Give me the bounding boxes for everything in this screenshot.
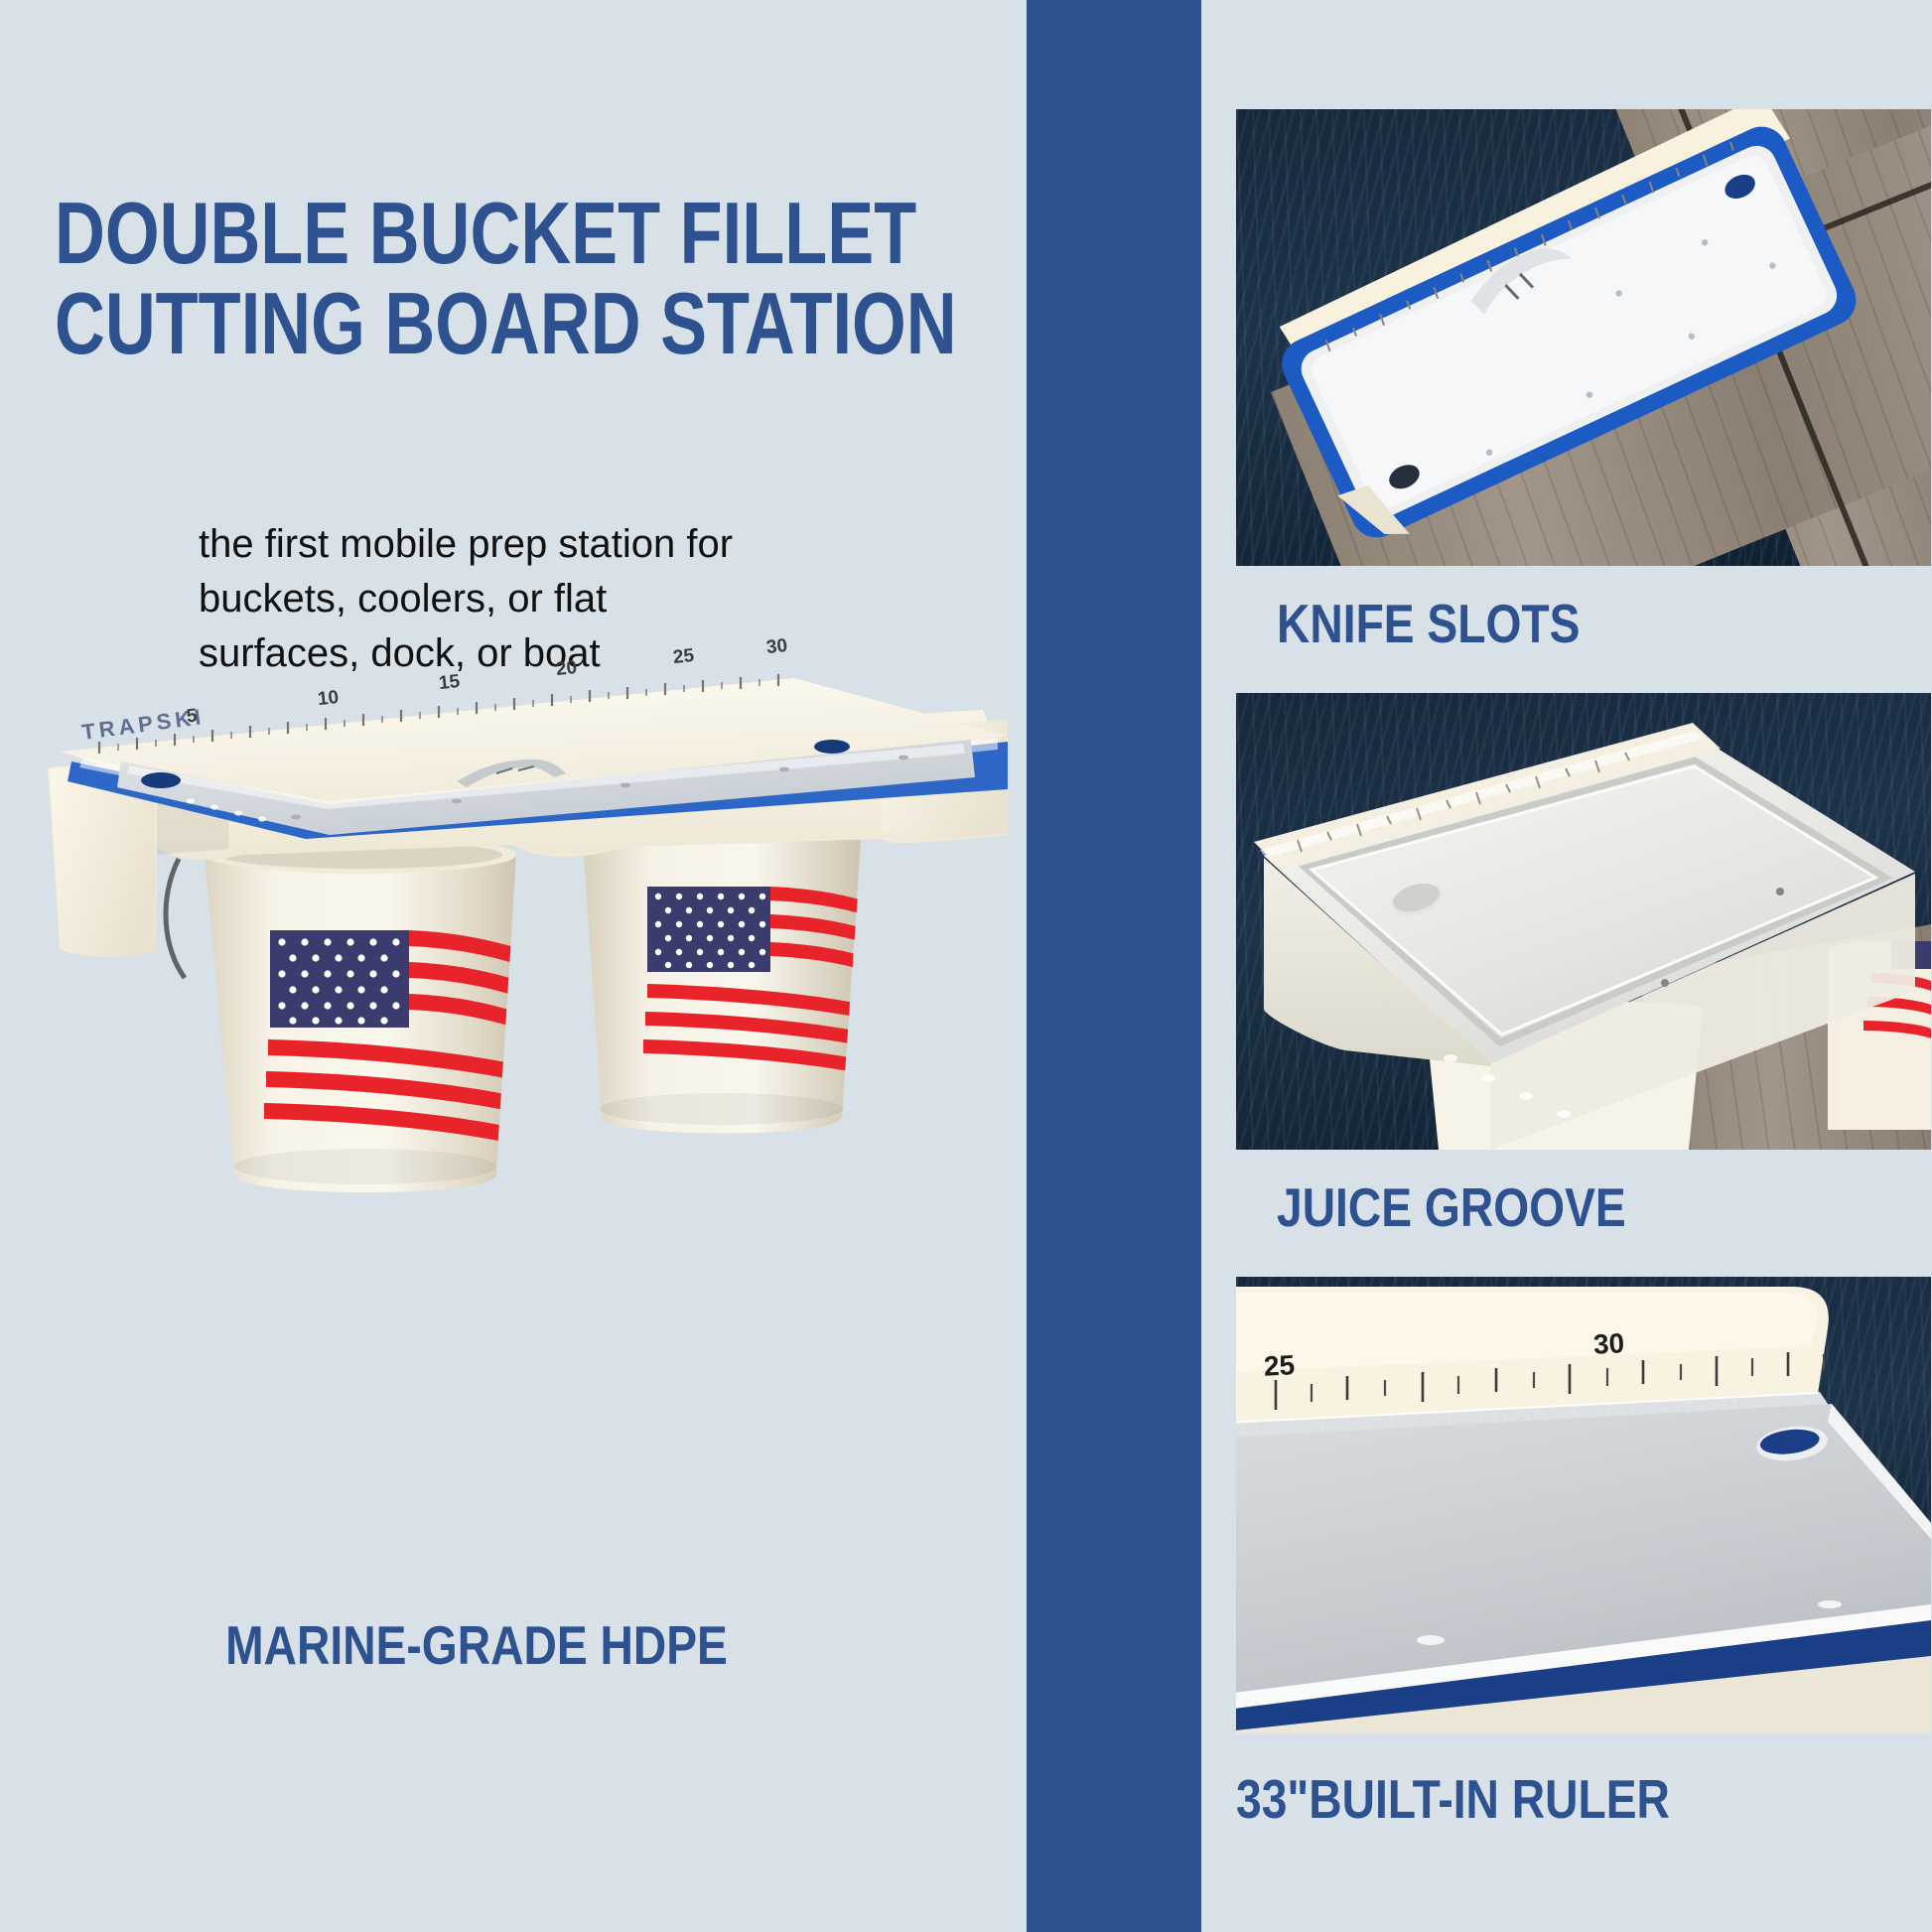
ruler-label-10: 10 (317, 687, 340, 711)
panel-caption-knife-slots: KNIFE SLOTS (1277, 592, 1580, 655)
ruler-label-25: 25 (1263, 1349, 1296, 1383)
panel-caption-juice-groove: JUICE GROOVE (1277, 1175, 1626, 1239)
page-title: DOUBLE BUCKET FILLET CUTTING BOARD STATI… (55, 189, 793, 368)
bucket-left (166, 836, 524, 1192)
panel-juice-groove-photo (1236, 693, 1931, 1150)
infographic-canvas: DOUBLE BUCKET FILLET CUTTING BOARD STATI… (0, 0, 1932, 1932)
ruler-label-30: 30 (1592, 1327, 1625, 1361)
hero-caption: MARINE-GRADE HDPE (101, 1613, 852, 1677)
hero-product-image: TRAPSKI 5 10 15 20 25 30 (30, 650, 1013, 1574)
panel-knife-slots-photo (1236, 109, 1931, 566)
builtin-ruler-board (1236, 1277, 1931, 1733)
subtitle-line-2: buckets, coolers, or flat (199, 572, 819, 626)
product-illustration (30, 650, 1013, 1574)
knife-slots-board (1236, 109, 1931, 566)
ruler-label-25: 25 (672, 645, 695, 669)
panel-builtin-ruler-photo: 25 30 (1236, 1277, 1931, 1733)
ruler-label-15: 15 (438, 671, 461, 695)
ruler-label-5: 5 (186, 706, 199, 729)
title-line-2: CUTTING BOARD STATION (55, 279, 793, 369)
juice-groove-board (1236, 693, 1931, 1150)
ruler-label-20: 20 (555, 657, 578, 681)
vertical-accent-stripe (1027, 0, 1201, 1932)
bucket-right (582, 810, 870, 1134)
panel-caption-builtin-ruler: 33"BUILT-IN RULER (1236, 1767, 1670, 1831)
ruler-label-30: 30 (765, 635, 788, 659)
corner-hole-right (814, 740, 850, 754)
title-line-1: DOUBLE BUCKET FILLET (55, 189, 793, 279)
subtitle-line-1: the first mobile prep station for (199, 517, 819, 572)
corner-hole-left (141, 772, 181, 788)
